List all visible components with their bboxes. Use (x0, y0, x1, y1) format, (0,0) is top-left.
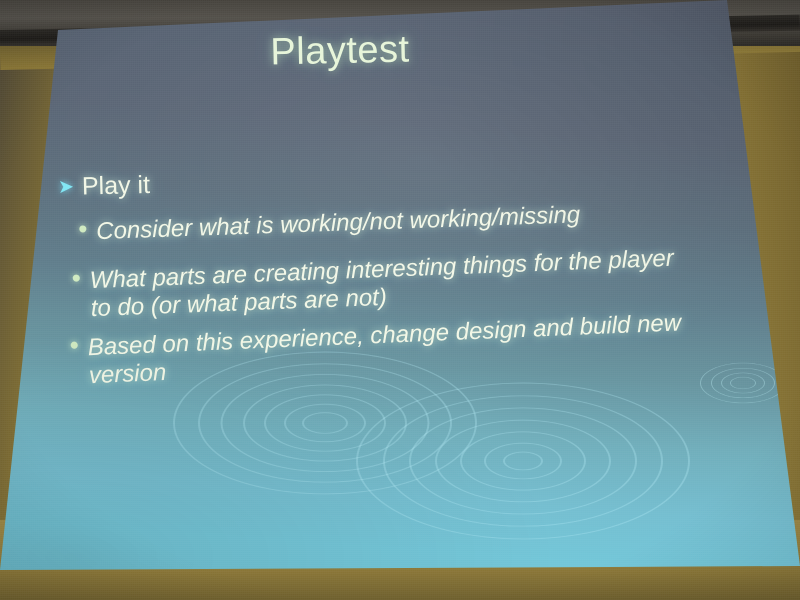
slide-content: Playtest ➤ Play it • Consider what is wo… (0, 0, 800, 588)
dot-bullet-icon: • (69, 335, 79, 357)
dot-bullet-icon: • (71, 268, 81, 290)
dot-bullet-icon: • (78, 218, 88, 240)
projection-screen: Playtest ➤ Play it • Consider what is wo… (0, 0, 800, 600)
arrow-bullet-icon: ➤ (58, 175, 74, 201)
bullet-text: Based on this experience, change design … (87, 309, 691, 390)
bullet-item-what-parts-are-creating: • What parts are creating interesting th… (71, 244, 691, 323)
bullet-item-based-on-this-experience: • Based on this experience, change desig… (69, 309, 691, 391)
bullet-text: Play it (82, 173, 151, 200)
bullet-item-play-it: ➤ Play it (58, 173, 151, 201)
bullet-text: What parts are creating interesting thin… (89, 244, 691, 323)
slide-title: Playtest (0, 23, 690, 81)
presentation-slide: Playtest ➤ Play it • Consider what is wo… (0, 0, 800, 588)
bullet-text: Consider what is working/not working/mis… (96, 201, 581, 246)
photograph-of-projection-screen: Playtest ➤ Play it • Consider what is wo… (0, 0, 800, 600)
bullet-item-consider-what-is-working: • Consider what is working/not working/m… (78, 201, 581, 246)
